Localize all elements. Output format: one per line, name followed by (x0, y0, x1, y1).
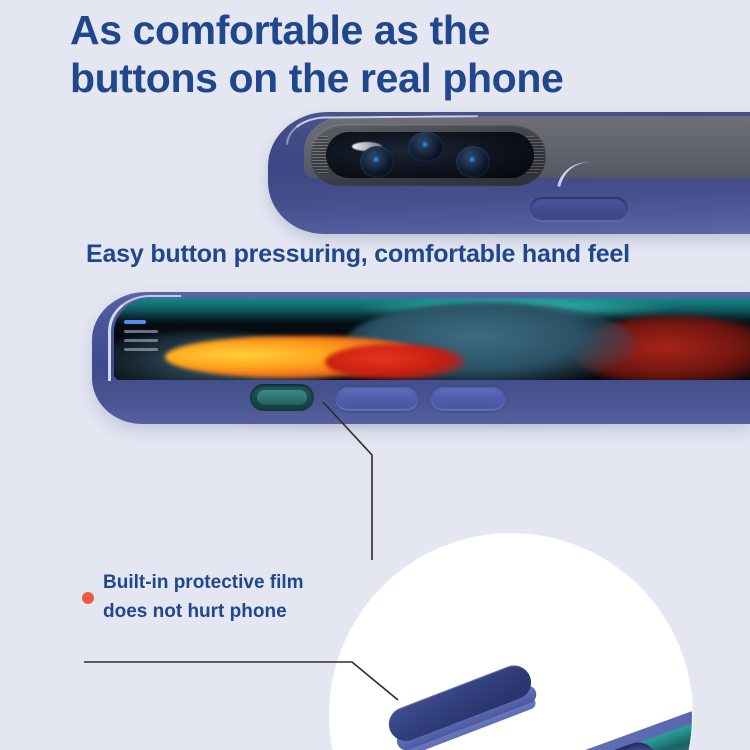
headline-line-2: buttons on the real phone (70, 54, 690, 102)
camera-lens-1 (360, 146, 394, 178)
triple-camera-module (310, 124, 546, 186)
power-button-cutout (530, 197, 628, 221)
headline-line-1: As comfortable as the (70, 7, 490, 53)
detached-button-piece (384, 660, 538, 750)
wallpaper-red-swirl (325, 344, 465, 380)
mute-switch (250, 384, 314, 411)
top-phone-case-body (268, 112, 750, 234)
camera-glass-inner (326, 132, 534, 178)
bullet-dot-icon (82, 592, 94, 604)
caption-line-2: does not hurt phone (103, 597, 353, 626)
detail-magnifier-circle (330, 534, 692, 750)
product-side-profile-phone-case (92, 292, 750, 428)
phone-screen-wallpaper (114, 298, 750, 380)
feature-caption: Built-in protective film does not hurt p… (103, 568, 353, 627)
camera-lens-3 (456, 146, 490, 178)
camera-lens-2 (408, 132, 444, 162)
product-feature-page: As comfortable as the buttons on the rea… (0, 0, 750, 750)
subheadline: Easy button pressuring, comfortable hand… (86, 240, 630, 269)
volume-down-button (430, 385, 506, 411)
mid-phone-case-body (92, 292, 750, 424)
product-top-phone-case (268, 112, 750, 237)
caption-line-1: Built-in protective film (103, 568, 353, 597)
volume-up-button (335, 385, 419, 411)
page-title: As comfortable as the buttons on the rea… (70, 6, 690, 103)
screen-bezel-highlight (108, 295, 181, 381)
